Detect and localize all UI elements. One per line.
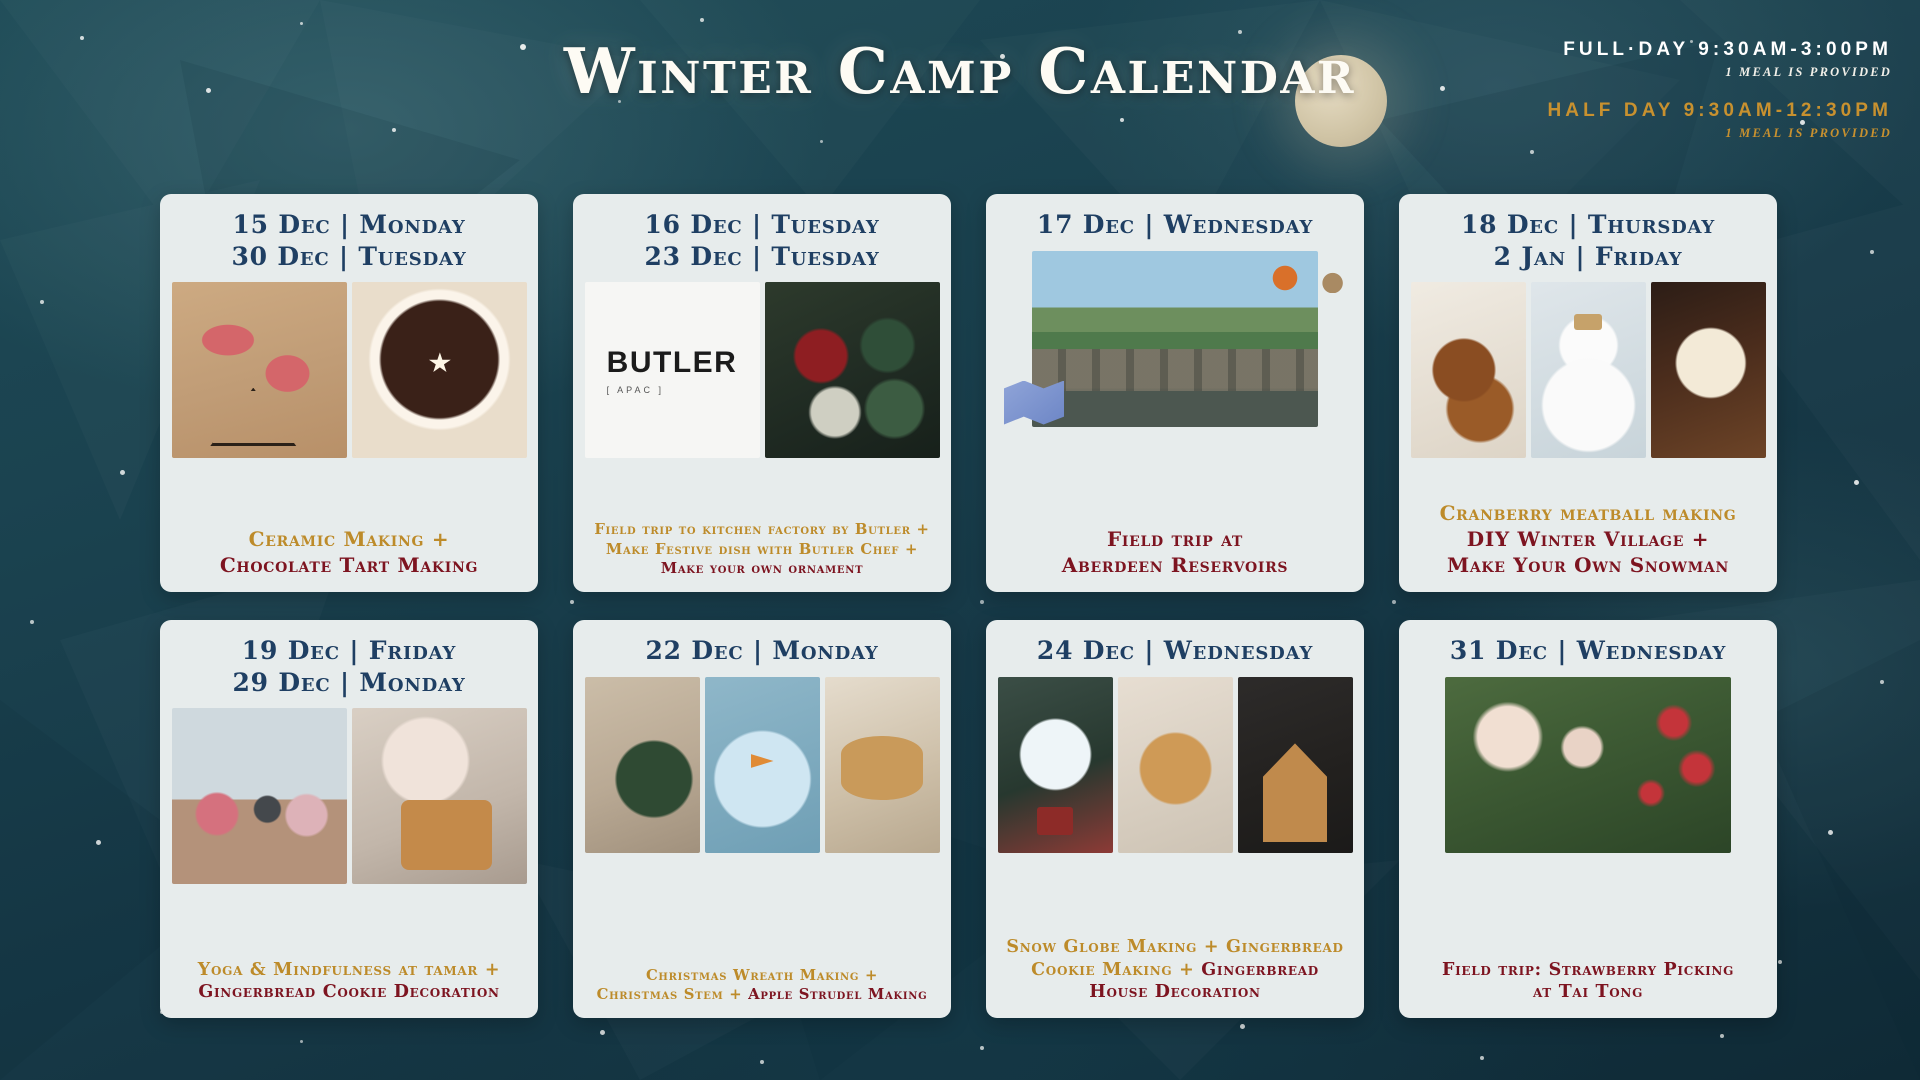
card-photos bbox=[170, 708, 528, 884]
card-15-30-dec[interactable]: 15 Dec | Monday30 Dec | TuesdayCeramic M… bbox=[160, 194, 538, 592]
photo-gingerbread-cookies bbox=[1118, 677, 1233, 853]
card-photos bbox=[170, 282, 528, 458]
photo-cookie-cutters bbox=[172, 282, 347, 458]
photo-gingerbread-house bbox=[1238, 677, 1353, 853]
date-line: 30 Dec | Tuesday bbox=[231, 241, 466, 273]
photo-apple-strudel bbox=[825, 677, 940, 853]
card-dates: 31 Dec | Wednesday bbox=[1450, 635, 1726, 667]
half-day-label: HALF DAY 9:30AM-12:30PM bbox=[1547, 99, 1892, 123]
date-line: 29 Dec | Monday bbox=[232, 667, 465, 699]
caption-segment-maroon: Gingerbread bbox=[1201, 960, 1319, 980]
snail-sticker bbox=[1314, 271, 1344, 293]
card-dates: 15 Dec | Monday30 Dec | Tuesday bbox=[231, 209, 466, 272]
photo-snowman-bag-craft bbox=[705, 677, 820, 853]
caption-segment-gold: Christmas Stem + bbox=[597, 986, 749, 1003]
caption-line: Make Your Own Snowman bbox=[1440, 552, 1737, 578]
photo-snow-globes bbox=[998, 677, 1113, 853]
card-caption: Cranberry meatball makingDIY Winter Vill… bbox=[1440, 487, 1737, 578]
card-dates: 19 Dec | Friday29 Dec | Monday bbox=[232, 635, 465, 698]
caption-line: Chocolate Tart Making bbox=[220, 552, 478, 578]
card-caption: Christmas Wreath Making +Christmas Stem … bbox=[597, 953, 928, 1004]
card-caption: Field trip to kitchen factory by Butler … bbox=[594, 507, 929, 578]
caption-line: Christmas Stem + Apple Strudel Making bbox=[597, 985, 928, 1004]
date-line: 22 Dec | Monday bbox=[645, 635, 878, 667]
winter-camp-calendar-poster: Winter Camp Calendar FULL·DAY 9:30AM-3:0… bbox=[0, 0, 1920, 1080]
date-line: 16 Dec | Tuesday bbox=[644, 209, 879, 241]
date-line: 18 Dec | Thursday bbox=[1461, 209, 1715, 241]
card-16-23-dec[interactable]: 16 Dec | Tuesday23 Dec | TuesdayBUTLER[ … bbox=[573, 194, 951, 592]
card-22-dec[interactable]: 22 Dec | MondayChristmas Wreath Making +… bbox=[573, 620, 951, 1018]
card-dates: 22 Dec | Monday bbox=[645, 635, 878, 667]
photo-child-decorating-gingerbread bbox=[352, 708, 527, 884]
photo-aberdeen-reservoir bbox=[1032, 251, 1318, 427]
photo-strawberry-picking bbox=[1445, 677, 1731, 853]
card-17-dec[interactable]: 17 Dec | WednesdayField trip atAberdeen … bbox=[986, 194, 1364, 592]
photo-wreath-making bbox=[585, 677, 700, 853]
caption-line: House Decoration bbox=[1006, 981, 1343, 1004]
session-legend: FULL·DAY 9:30AM-3:00PM 1 MEAL IS PROVIDE… bbox=[1547, 38, 1892, 141]
butler-logo-text: BUTLER[ APAC ] bbox=[607, 346, 738, 395]
caption-line: Make your own ornament bbox=[594, 559, 929, 578]
card-dates: 17 Dec | Wednesday bbox=[1037, 209, 1313, 241]
photo-chocolate-tart bbox=[352, 282, 527, 458]
card-photos bbox=[1409, 282, 1767, 458]
photo-snowman bbox=[1531, 282, 1646, 458]
caption-line: Cranberry meatball making bbox=[1440, 500, 1737, 526]
card-caption: Field trip atAberdeen Reservoirs bbox=[1062, 513, 1289, 578]
card-caption: Ceramic Making +Chocolate Tart Making bbox=[220, 513, 478, 578]
date-line: 15 Dec | Monday bbox=[231, 209, 466, 241]
caption-line: Yoga & Mindfulness at tamar + bbox=[198, 959, 500, 982]
calendar-grid: 15 Dec | Monday30 Dec | TuesdayCeramic M… bbox=[160, 194, 1765, 1018]
caption-line: Christmas Wreath Making + bbox=[597, 966, 928, 985]
date-line: 24 Dec | Wednesday bbox=[1037, 635, 1313, 667]
card-photos bbox=[583, 677, 941, 853]
photo-felt-wreath-ornaments bbox=[765, 282, 940, 458]
half-day-meal-note: 1 MEAL IS PROVIDED bbox=[1547, 126, 1892, 141]
caption-line: Gingerbread Cookie Decoration bbox=[198, 981, 500, 1004]
caption-line: Field trip at bbox=[1062, 526, 1289, 552]
photo-yoga-class bbox=[172, 708, 347, 884]
caption-line: Field trip to kitchen factory by Butler … bbox=[594, 520, 929, 539]
caption-line: Snow Globe Making + Gingerbread bbox=[1006, 936, 1343, 959]
caption-line: at Tai Tong bbox=[1442, 981, 1734, 1004]
caption-segment-gold: Cookie Making + bbox=[1031, 960, 1201, 980]
date-line: 23 Dec | Tuesday bbox=[644, 241, 879, 273]
date-line: 31 Dec | Wednesday bbox=[1450, 635, 1726, 667]
date-line: 2 Jan | Friday bbox=[1461, 241, 1715, 273]
card-dates: 16 Dec | Tuesday23 Dec | Tuesday bbox=[644, 209, 879, 272]
card-photos bbox=[996, 677, 1354, 853]
card-caption: Field trip: Strawberry Pickingat Tai Ton… bbox=[1442, 946, 1734, 1005]
card-caption: Snow Globe Making + GingerbreadCookie Ma… bbox=[1006, 923, 1343, 1004]
card-18-dec-2-jan[interactable]: 18 Dec | Thursday2 Jan | FridayCranberry… bbox=[1399, 194, 1777, 592]
caption-line: Field trip: Strawberry Picking bbox=[1442, 959, 1734, 982]
card-caption: Yoga & Mindfulness at tamar +Gingerbread… bbox=[198, 946, 500, 1005]
photo-butler-logo: BUTLER[ APAC ] bbox=[585, 282, 760, 458]
caption-segment-maroon: Apple Strudel Making bbox=[748, 986, 927, 1003]
full-day-label: FULL·DAY 9:30AM-3:00PM bbox=[1547, 38, 1892, 62]
butler-logo-subtext: [ APAC ] bbox=[607, 385, 738, 395]
date-line: 17 Dec | Wednesday bbox=[1037, 209, 1313, 241]
photo-snow-globe-jar bbox=[1651, 282, 1766, 458]
full-day-meal-note: 1 MEAL IS PROVIDED bbox=[1547, 65, 1892, 80]
caption-line: Cookie Making + Gingerbread bbox=[1006, 959, 1343, 982]
card-24-dec[interactable]: 24 Dec | WednesdaySnow Globe Making + Gi… bbox=[986, 620, 1364, 1018]
date-line: 19 Dec | Friday bbox=[232, 635, 465, 667]
card-dates: 18 Dec | Thursday2 Jan | Friday bbox=[1461, 209, 1715, 272]
card-19-29-dec[interactable]: 19 Dec | Friday29 Dec | MondayYoga & Min… bbox=[160, 620, 538, 1018]
caption-line: DIY Winter Village + bbox=[1440, 526, 1737, 552]
caption-line: Make Festive dish with Butler Chef + bbox=[594, 540, 929, 559]
caption-line: Aberdeen Reservoirs bbox=[1062, 552, 1289, 578]
card-photos bbox=[996, 251, 1354, 427]
caption-line: Ceramic Making + bbox=[220, 526, 478, 552]
card-photos bbox=[1409, 677, 1767, 853]
card-31-dec[interactable]: 31 Dec | WednesdayField trip: Strawberry… bbox=[1399, 620, 1777, 1018]
card-dates: 24 Dec | Wednesday bbox=[1037, 635, 1313, 667]
photo-cranberry-meatballs bbox=[1411, 282, 1526, 458]
card-photos: BUTLER[ APAC ] bbox=[583, 282, 941, 458]
